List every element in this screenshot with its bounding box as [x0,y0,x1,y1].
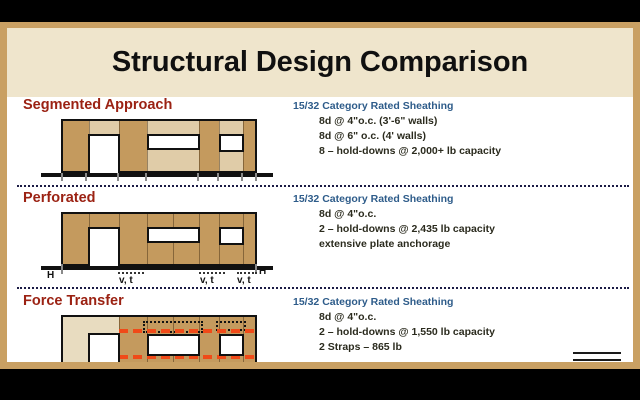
holddown-anchor-tick [241,173,243,181]
door-opening [88,134,120,175]
window-opening [219,134,244,152]
spec-heading: 15/32 Category Rated Sheathing [293,295,633,310]
wall-elevation [61,315,257,362]
slide-letterbox-stage: Structural Design Comparison Segmented A… [0,0,640,400]
dim-label-H-right: H [259,266,266,277]
title-band: Structural Design Comparison [7,28,633,97]
section-segmented-approach: Segmented Approach [7,97,633,185]
page-title: Structural Design Comparison [7,28,633,97]
spec-line: 8 – hold-downs @ 2,000+ lb capacity [293,144,633,159]
diagram-perforated: H H v, t v, t v, t [23,212,273,286]
window-opening [147,134,200,150]
wall-elevation [61,119,257,173]
dim-label-H-left: H [47,270,54,281]
spec-line: 8d @ 4"o.c. [293,310,633,325]
window-opening [219,227,244,245]
window-opening [219,334,244,356]
section-divider [17,185,629,187]
diagram-force-transfer [23,315,273,362]
door-opening [88,333,120,362]
strap-line [119,329,257,333]
section-title-segmented: Segmented Approach [23,97,172,113]
spec-line: 2 – hold-downs @ 1,550 lb capacity [293,325,633,340]
spec-block-force-transfer: 15/32 Category Rated Sheathing 8d @ 4"o.… [293,295,633,355]
spec-line: 8d @ 4"o.c. (3'-6" walls) [293,114,633,129]
spec-line: 8d @ 4"o.c. [293,207,633,222]
holddown-anchor-tick [217,173,219,181]
slide-canvas: Structural Design Comparison Segmented A… [7,28,633,362]
spec-block-perforated: 15/32 Category Rated Sheathing 8d @ 4"o.… [293,192,633,252]
holddown-anchor-tick [61,173,63,181]
spec-line: 2 – hold-downs @ 2,435 lb capacity [293,222,633,237]
holddown-anchor-tick [255,173,257,181]
apa-logo: APA [573,352,621,362]
slide-frame: Structural Design Comparison Segmented A… [0,22,640,369]
section-perforated: Perforated [7,190,633,288]
foundation-baseline [41,173,273,177]
holddown-anchor-tick [117,173,119,181]
dim-label-vt: v, t [200,275,214,286]
spec-heading: 15/32 Category Rated Sheathing [293,99,633,114]
section-title-force-transfer: Force Transfer [23,293,124,309]
holddown-anchor-tick [61,264,63,274]
foundation-baseline [41,266,273,270]
spec-block-segmented: 15/32 Category Rated Sheathing 8d @ 4"o.… [293,99,633,159]
spec-line: 8d @ 6" o.c. (4' walls) [293,129,633,144]
section-title-perforated: Perforated [23,190,96,206]
spec-line: extensive plate anchorage [293,237,633,252]
wall-elevation [61,212,257,266]
section-divider [17,287,629,289]
holddown-anchor-tick [197,173,199,181]
spec-heading: 15/32 Category Rated Sheathing [293,192,633,207]
window-opening [147,334,200,356]
holddown-anchor-tick [145,173,147,181]
holddown-anchor-tick [85,173,87,181]
diagram-segmented-approach [23,119,273,183]
door-opening [88,227,120,268]
dim-label-vt: v, t [119,275,133,286]
logo-text: APA [573,361,621,362]
section-force-transfer: Force Transfer [7,293,633,362]
dim-label-vt: v, t [237,275,251,286]
window-opening [147,227,200,243]
